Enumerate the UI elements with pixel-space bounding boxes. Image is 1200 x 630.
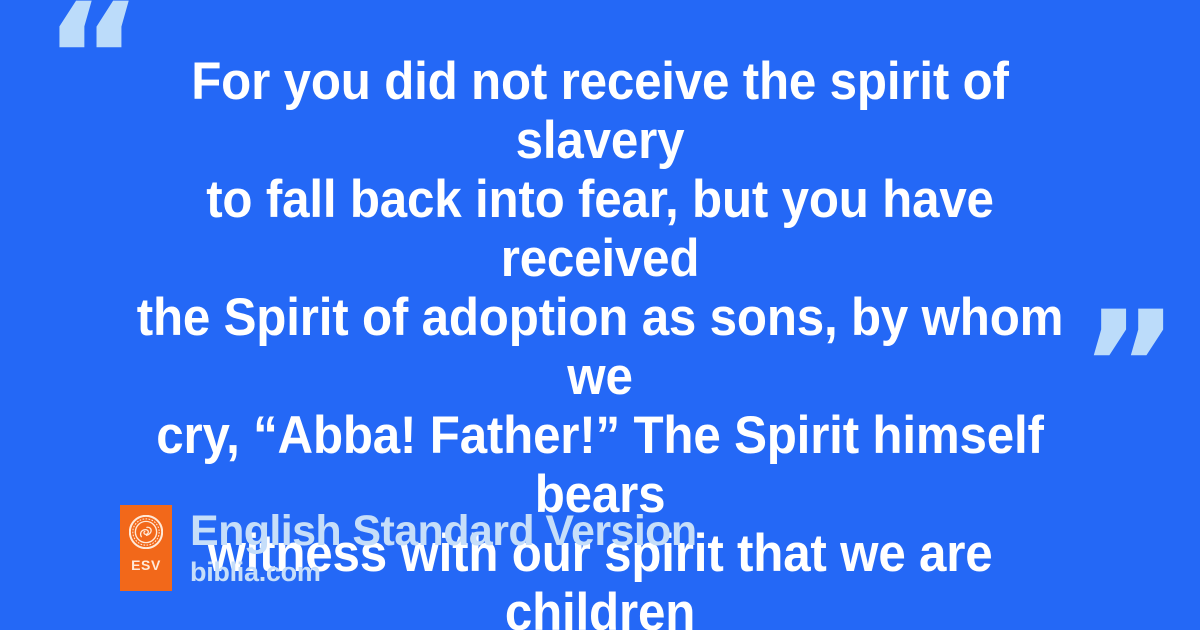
site-url[interactable]: biblia.com [190,557,697,587]
footer: ESV English Standard Version biblia.com [120,505,697,591]
esv-logo: ESV [120,505,172,591]
verse-card: “ ” For you did not receive the spirit o… [0,0,1200,630]
bible-version-name: English Standard Version [190,507,697,555]
attribution: English Standard Version biblia.com [190,505,697,587]
esv-logo-label: ESV [131,558,161,572]
esv-seal-icon [129,515,163,549]
